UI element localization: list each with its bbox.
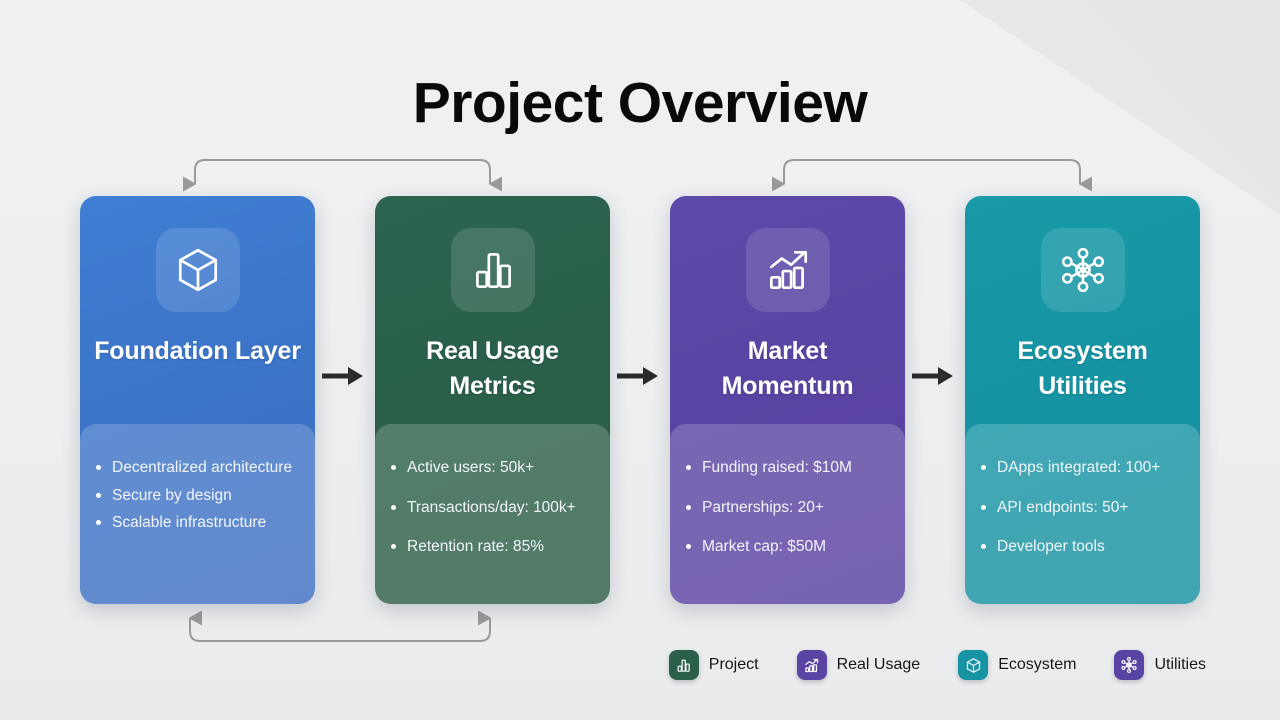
legend-item-project[interactable]: Project bbox=[669, 650, 759, 680]
icon-tile bbox=[746, 228, 830, 312]
legend-label: Real Usage bbox=[837, 656, 921, 674]
page-title: Project Overview bbox=[0, 72, 1280, 135]
list-item: Market cap: $50M bbox=[684, 533, 899, 561]
legend-chip bbox=[958, 650, 988, 680]
card-row: Foundation Layer Decentralized architect… bbox=[0, 196, 1280, 604]
legend-chip bbox=[669, 650, 699, 680]
legend-chip bbox=[797, 650, 827, 680]
list-item: Active users: 50k+ bbox=[389, 454, 604, 482]
list-item: API endpoints: 50+ bbox=[979, 494, 1194, 522]
card-title: Foundation Layer bbox=[80, 334, 315, 369]
connector-top-left bbox=[195, 160, 490, 184]
card-title: Real Usage Metrics bbox=[375, 334, 610, 403]
card-bullets-panel: Active users: 50k+ Transactions/day: 100… bbox=[375, 424, 610, 604]
legend-item-real-usage[interactable]: Real Usage bbox=[797, 650, 921, 680]
bullet-list: DApps integrated: 100+ API endpoints: 50… bbox=[979, 454, 1194, 561]
card-ecosystem-utilities[interactable]: Ecosystem Utilities DApps integrated: 10… bbox=[965, 196, 1200, 604]
card-bullets-panel: Funding raised: $10M Partnerships: 20+ M… bbox=[670, 424, 905, 604]
list-item: Funding raised: $10M bbox=[684, 454, 899, 482]
card-foundation-layer[interactable]: Foundation Layer Decentralized architect… bbox=[80, 196, 315, 604]
list-item: DApps integrated: 100+ bbox=[979, 454, 1194, 482]
legend-item-utilities[interactable]: Utilities bbox=[1114, 650, 1206, 680]
trending-up-chart-icon bbox=[763, 245, 813, 295]
network-hub-icon bbox=[1058, 245, 1108, 295]
card-market-momentum[interactable]: Market Momentum Funding raised: $10M Par… bbox=[670, 196, 905, 604]
slide-canvas: Project Overview bbox=[0, 0, 1280, 720]
legend: Project Real Usage bbox=[0, 650, 1280, 680]
bar-chart-icon bbox=[675, 657, 692, 674]
card-bullets-panel: DApps integrated: 100+ API endpoints: 50… bbox=[965, 424, 1200, 604]
legend-label: Ecosystem bbox=[998, 656, 1076, 674]
connector-top-right bbox=[784, 160, 1080, 184]
legend-chip bbox=[1114, 650, 1144, 680]
card-title: Ecosystem Utilities bbox=[965, 334, 1200, 403]
list-item: Partnerships: 20+ bbox=[684, 494, 899, 522]
card-title: Market Momentum bbox=[670, 334, 905, 403]
bullet-list: Decentralized architecture Secure by des… bbox=[94, 454, 309, 537]
list-item: Developer tools bbox=[979, 533, 1194, 561]
card-bullets-panel: Decentralized architecture Secure by des… bbox=[80, 424, 315, 604]
bar-chart-icon bbox=[468, 245, 518, 295]
legend-label: Utilities bbox=[1154, 656, 1206, 674]
icon-tile bbox=[451, 228, 535, 312]
icon-tile bbox=[156, 228, 240, 312]
cube-icon bbox=[965, 657, 982, 674]
network-hub-icon bbox=[1120, 656, 1138, 674]
list-item: Scalable infrastructure bbox=[94, 509, 309, 537]
legend-item-ecosystem[interactable]: Ecosystem bbox=[958, 650, 1076, 680]
list-item: Secure by design bbox=[94, 482, 309, 510]
bullet-list: Funding raised: $10M Partnerships: 20+ M… bbox=[684, 454, 899, 561]
icon-tile bbox=[1041, 228, 1125, 312]
card-real-usage-metrics[interactable]: Real Usage Metrics Active users: 50k+ Tr… bbox=[375, 196, 610, 604]
list-item: Retention rate: 85% bbox=[389, 533, 604, 561]
cube-icon bbox=[173, 245, 223, 295]
trending-up-chart-icon bbox=[803, 657, 820, 674]
legend-label: Project bbox=[709, 656, 759, 674]
list-item: Decentralized architecture bbox=[94, 454, 309, 482]
connector-bottom-left bbox=[190, 618, 490, 641]
list-item: Transactions/day: 100k+ bbox=[389, 494, 604, 522]
bullet-list: Active users: 50k+ Transactions/day: 100… bbox=[389, 454, 604, 561]
